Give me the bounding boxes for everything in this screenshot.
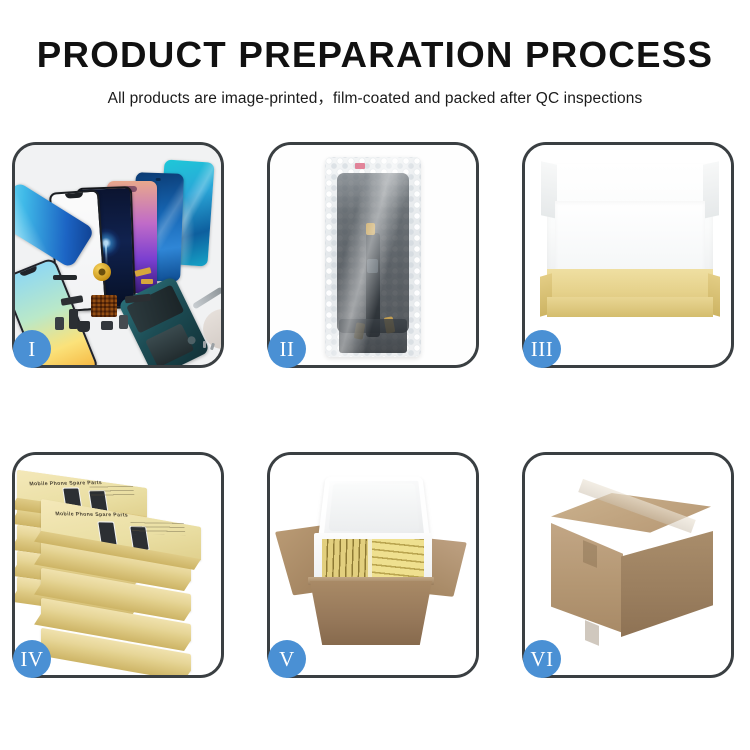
bubble-wrap-bag-icon — [325, 157, 421, 357]
screen-bottom-section-icon — [339, 319, 407, 353]
carton-left-face-icon — [551, 523, 623, 633]
spare-part-gold-tab-icon — [141, 279, 153, 284]
step-badge-6: VI — [523, 640, 561, 678]
foam-lid-icon — [318, 477, 430, 540]
step-panel-3: III — [522, 142, 734, 368]
screw-icon — [203, 341, 206, 348]
carton-front-panel-icon — [310, 581, 432, 645]
pink-label-sticker-icon — [355, 163, 365, 169]
step-image-carton-with-foam-insert — [270, 455, 476, 675]
tweezers-icon — [192, 286, 221, 309]
step-panel-1: I — [12, 142, 224, 368]
step-panel-4: Mobile Phone Spare Parts Mobile Phone Sp… — [12, 452, 224, 678]
step-panel-5: V — [267, 452, 479, 678]
yellow-box-front-panel-icon — [547, 297, 713, 317]
step-panel-6: VI — [522, 452, 734, 678]
spare-part-battery-connector-icon — [119, 315, 128, 329]
carton-right-face-icon — [621, 531, 713, 637]
page-subtitle: All products are image-printed，film-coat… — [0, 86, 750, 108]
step-image-phone-screens-and-parts — [15, 145, 221, 365]
step-badge-3: III — [523, 330, 561, 368]
gold-contact-icon — [366, 223, 375, 235]
step-image-open-yellow-box-with-foam — [525, 145, 731, 365]
step-panel-2: II — [267, 142, 479, 368]
white-foam-sheet-icon — [555, 201, 705, 277]
spare-part-vibrator-icon — [93, 263, 111, 281]
step-image-screen-in-bubble-wrap — [270, 145, 476, 365]
step-badge-1: I — [13, 330, 51, 368]
process-steps-grid: I II III — [12, 142, 738, 678]
page-header: PRODUCT PREPARATION PROCESS All products… — [0, 0, 750, 108]
step-badge-5: V — [268, 640, 306, 678]
step-image-sealed-shipping-carton — [525, 455, 731, 675]
spare-part-sim-tray-icon — [55, 317, 64, 330]
page-title: PRODUCT PREPARATION PROCESS — [0, 36, 750, 74]
packed-yellow-boxes-icon — [322, 539, 424, 579]
spare-part-camera-module-icon — [101, 321, 113, 330]
carton-seam-icon — [585, 620, 599, 646]
step-badge-2: II — [268, 330, 306, 368]
spare-part-bar-icon — [53, 275, 77, 280]
spare-part-speaker-icon — [77, 321, 90, 332]
step-badge-4: IV — [13, 640, 51, 678]
spare-part-connector-grid-icon — [91, 295, 117, 317]
box-stack-group: Mobile Phone Spare Parts Mobile Phone Sp… — [15, 455, 221, 675]
step-image-stacked-retail-boxes: Mobile Phone Spare Parts Mobile Phone Sp… — [15, 455, 221, 675]
